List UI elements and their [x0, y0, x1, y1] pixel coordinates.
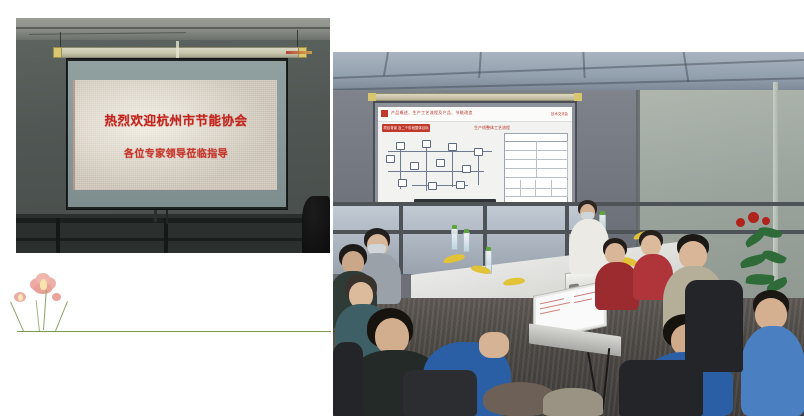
screen-roller-bar-right: [371, 93, 577, 101]
roller-cap-left: [53, 47, 62, 58]
flower-bud-right-petal: [52, 293, 61, 301]
roller-brand-label: [286, 51, 312, 54]
lower-wall-shadow-1: [16, 218, 330, 223]
roller-cap-left-right-photo: [368, 93, 376, 101]
ceiling-seam: [29, 32, 186, 35]
screen-support-2: [166, 210, 168, 224]
slide-table-cell: [505, 168, 537, 178]
plant-red-flower: [762, 217, 770, 225]
flower-stem-right: [55, 301, 68, 331]
slide-table-cell: [551, 188, 568, 197]
left-photo-projector-screen: 热烈欢迎杭州市节能协会 各位专家领导莅临指导: [16, 18, 330, 253]
flower-stem-main: [43, 290, 47, 330]
flow-node: [462, 165, 471, 173]
right-photo-conference-room: 产品概述、生产工艺流程及产品、节能改造 技术交流会 项目背景 及二个阶段整体目标…: [333, 52, 804, 416]
slide-process-flowchart: [382, 137, 500, 199]
flow-node: [410, 162, 419, 170]
flower-stem-left: [10, 302, 24, 332]
office-chair-back: [685, 280, 743, 372]
bottle-cap: [486, 247, 491, 251]
ceiling-right: [333, 52, 804, 92]
plant-leaf: [761, 247, 787, 267]
bottle-cap: [464, 229, 469, 233]
head: [679, 241, 707, 269]
roller-cap-right-right-photo: [574, 93, 582, 101]
lower-wall-shadow-2: [16, 238, 330, 241]
head: [375, 318, 409, 354]
flow-node: [386, 155, 395, 163]
person-far-right: [741, 290, 804, 416]
bottle-cap: [452, 225, 457, 229]
arm: [479, 332, 509, 358]
green-divider-line: [17, 331, 331, 332]
flower-center-main: [40, 279, 47, 290]
flow-node: [422, 140, 431, 148]
wall-column-1: [56, 218, 60, 253]
slide-title-text: 产品概述、生产工艺流程及产品、节能改造: [391, 110, 473, 116]
slide-section-badge: 项目背景 及二个阶段整体目标: [382, 124, 430, 132]
ceiling-rail: [16, 27, 330, 29]
flower-stem-extra: [36, 300, 40, 332]
slide-welcome-line-2: 各位专家领导莅临指导: [124, 145, 228, 160]
ceiling-left: [16, 18, 330, 40]
office-chair-back: [333, 342, 363, 416]
slide-table-cell: [520, 188, 536, 197]
head: [641, 235, 661, 256]
slide-corner-tag: 技术交流会: [551, 111, 568, 116]
slide-table-cell: [536, 168, 568, 178]
flow-node: [428, 182, 437, 190]
screen-roller-bar: [56, 47, 302, 58]
foreground-person-silhouette: [302, 196, 330, 253]
flow-node: [396, 142, 405, 150]
flower-bud-left-center: [18, 294, 23, 301]
person-bottom-center: [483, 382, 603, 416]
slide-welcome-line-1: 热烈欢迎杭州市节能协会: [104, 110, 247, 129]
slide-subtitle-text: 生产线整体工艺流程: [474, 125, 510, 131]
slide-table-cell: [535, 188, 552, 197]
plant-red-flower: [736, 218, 745, 227]
flow-node: [456, 181, 465, 189]
flow-node: [448, 143, 457, 151]
slide-data-table: [504, 133, 568, 205]
screen-support-1: [154, 210, 157, 222]
flow-node: [398, 179, 407, 187]
torso: [741, 326, 804, 416]
office-chair-back: [619, 360, 703, 416]
screenshot-canvas: 热烈欢迎杭州市节能协会 各位专家领导莅临指导: [0, 0, 804, 416]
office-chair-seat: [403, 370, 477, 416]
torso: [543, 388, 603, 416]
slide-table-cell: [505, 188, 521, 197]
slide-section-badge-text: 项目背景 及二个阶段整体目标: [382, 124, 430, 132]
flow-node: [474, 148, 483, 156]
slide-logo-mark: [381, 110, 388, 117]
plant-red-flower: [748, 212, 759, 223]
water-bottle: [463, 232, 470, 252]
water-bottle: [451, 228, 458, 250]
slide-text-block: 热烈欢迎杭州市节能协会 各位专家领导莅临指导: [75, 80, 277, 190]
head: [605, 243, 625, 264]
ceiling-panel-seam: [176, 41, 179, 59]
flower-decoration: [12, 270, 68, 332]
flow-node: [436, 159, 445, 167]
ceiling-tile-grid: [333, 52, 804, 92]
